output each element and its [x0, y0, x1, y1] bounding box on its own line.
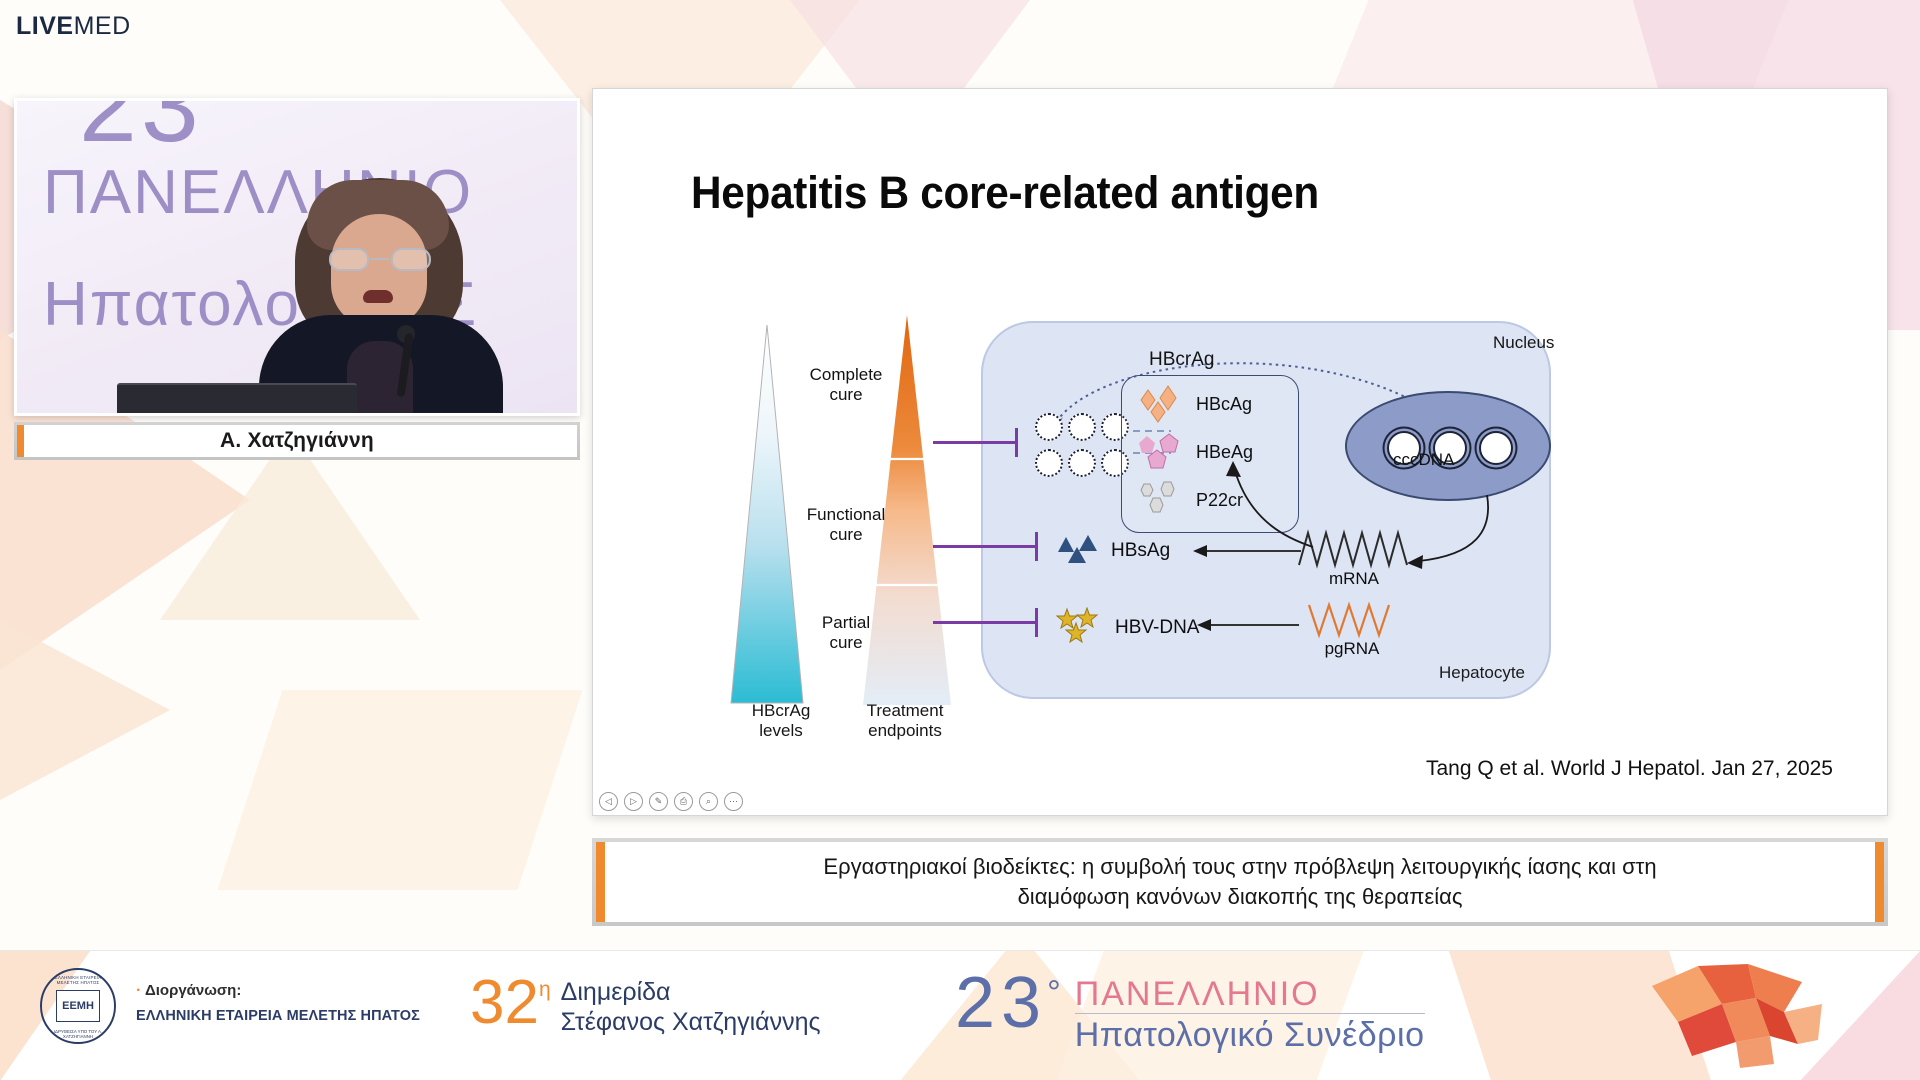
pyramid-caption-left: HBcrAglevels: [721, 701, 841, 741]
event-32-number: 32: [470, 974, 539, 1031]
event-23-line-2: Ηπατολογικό Συνέδριο: [1075, 1013, 1425, 1055]
speaker-panel: 23 ΠΑΝΕΛΛΗΝΙΟ Ηπατολογικό Σ Α.: [14, 98, 580, 460]
hbcag-glyphs: [1136, 384, 1188, 424]
logo-med-text: MED: [74, 12, 131, 40]
more-icon[interactable]: ⋯: [724, 792, 743, 811]
nucleus: [1345, 391, 1551, 501]
hbeag-glyphs: [1136, 432, 1188, 472]
pgrna-squiggle: [1305, 601, 1403, 641]
hbcrag-label: HBcrAg: [1149, 349, 1214, 371]
stage-label-functional: Functionalcure: [791, 505, 901, 546]
caption-line-1: Εργαστηριακοί βιοδείκτες: η συμβολή τους…: [823, 852, 1656, 882]
hbsag-glyphs: [1055, 531, 1103, 570]
nucleus-label: Nucleus: [1493, 333, 1554, 353]
speaker-mouth: [363, 290, 393, 303]
stage-label-partial: Partialcure: [791, 613, 901, 654]
event-32-suffix: η: [539, 978, 551, 1002]
speaker-video[interactable]: 23 ΠΑΝΕΛΛΗΝΙΟ Ηπατολογικό Σ: [14, 98, 580, 416]
slide-title: Hepatitis B core-related antigen: [691, 167, 1319, 219]
caption-accent-right: [1875, 842, 1884, 922]
marker-row-hbsag: HBsAg: [1055, 531, 1170, 570]
rewind-icon[interactable]: ◁: [599, 792, 618, 811]
footer-bar: ΕΛΛΗΝΙΚΗ ΕΤΑΙΡΕΙΑ ΜΕΛΕΤΗΣ ΗΠΑΤΟΣ ΕΕΜΗ ΙΔ…: [0, 950, 1920, 1080]
marker-name-hbsag: HBsAg: [1111, 540, 1170, 562]
caption-line-2: διαμόφωση κανόνων διακοπής της θεραπείας: [1018, 882, 1463, 912]
nameplate-accent-bar: [17, 425, 24, 457]
inhibitor-bar-complete: [933, 441, 1017, 444]
speaker-figure: [255, 178, 505, 413]
presentation-slide[interactable]: Hepatitis B core-related antigen: [592, 88, 1888, 816]
player-controls[interactable]: ◁ ▷ ✎ ⎙ ⌕ ⋯: [599, 792, 743, 811]
print-icon[interactable]: ⎙: [674, 792, 693, 811]
cccdna-to-mrna-arrow: [1383, 495, 1503, 587]
event-32-line-1: Διημερίδα: [561, 978, 821, 1008]
backdrop-number: 23: [79, 98, 203, 166]
speaker-nameplate: Α. Χατζηγιάννη: [14, 422, 580, 460]
marker-name-hbvdna: HBV-DNA: [1115, 617, 1199, 639]
event-23-degree: °: [1047, 974, 1061, 1013]
liver-graphic: [1652, 964, 1842, 1068]
pgrna-to-hbvdna-arrow: [1193, 609, 1305, 641]
organizer-name: ΕΛΛΗΝΙΚΗ ΕΤΑΙΡΕΙΑ ΜΕΛΕΤΗΣ ΗΠΑΤΟΣ: [136, 1008, 420, 1024]
protein-row-hbcag: HBcAg: [1136, 384, 1252, 424]
mrna-to-protein-arrow: [1193, 461, 1323, 553]
protein-name-hbeag: HBeAg: [1196, 442, 1253, 463]
hepatocyte-label: Hepatocyte: [1439, 663, 1525, 683]
p22cr-glyphs: [1136, 480, 1188, 520]
hbvdna-glyphs: [1055, 607, 1107, 648]
background-shape: [0, 620, 170, 800]
hbv-lifecycle-diagram: Completecure Functionalcure Partialcure …: [593, 265, 1888, 775]
inhibitor-bar-functional: [933, 545, 1037, 548]
pgrna-label: pgRNA: [1297, 639, 1407, 659]
event-32-block: 32 η Διημερίδα Στέφανος Χατζηγιάννης: [470, 974, 821, 1037]
logo-live-text: LIVE: [16, 12, 74, 40]
cccdna-label: cccDNA: [1393, 450, 1454, 470]
marker-row-hbvdna: HBV-DNA: [1055, 607, 1199, 648]
eemh-logo: ΕΛΛΗΝΙΚΗ ΕΤΑΙΡΕΙΑ ΜΕΛΕΤΗΣ ΗΠΑΤΟΣ ΕΕΜΗ ΙΔ…: [40, 968, 116, 1044]
organizer-block: · Διοργάνωση: ΕΛΛΗΝΙΚΗ ΕΤΑΙΡΕΙΑ ΜΕΛΕΤΗΣ …: [136, 982, 420, 1024]
caption-accent-left: [596, 842, 605, 922]
inhibitor-bar-partial: [933, 621, 1037, 624]
organizer-label: · Διοργάνωση:: [136, 982, 420, 1000]
event-32-line-2: Στέφανος Χατζηγιάννης: [561, 1008, 821, 1038]
app-root: LIVEMED 23 ΠΑΝΕΛΛΗΝΙΟ Ηπατολογικό Σ: [0, 0, 1920, 1080]
capsid-particles: [1035, 413, 1131, 481]
session-title-bar: Εργαστηριακοί βιοδείκτες: η συμβολή τους…: [592, 838, 1888, 926]
play-icon[interactable]: ▷: [624, 792, 643, 811]
zoom-icon[interactable]: ⌕: [699, 792, 718, 811]
podium: [117, 383, 357, 413]
stage-label-complete: Completecure: [791, 365, 901, 406]
event-23-number: 23: [955, 970, 1047, 1036]
glasses-icon: [327, 248, 433, 272]
eemh-logo-bottom-text: ΙΔΡΥΘΕΙΣΑ ΥΠΟ ΤΟΥ Α. ΧΑΤΖΗΓΙΑΝΝΗ: [48, 1029, 108, 1039]
slide-citation: Tang Q et al. World J Hepatol. Jan 27, 2…: [1426, 757, 1833, 781]
protein-name-hbcag: HBcAg: [1196, 394, 1252, 415]
event-23-block: 23 ° ΠΑΝΕΛΛΗΝΙΟ Ηπατολογικό Συνέδριο: [955, 970, 1425, 1055]
eemh-logo-top-text: ΕΛΛΗΝΙΚΗ ΕΤΑΙΡΕΙΑ ΜΕΛΕΤΗΣ ΗΠΑΤΟΣ: [48, 975, 108, 985]
speaker-name: Α. Χατζηγιάννη: [220, 429, 374, 453]
livemed-logo[interactable]: LIVEMED: [16, 14, 131, 39]
pyramid-caption-right: Treatmentendpoints: [845, 701, 965, 741]
event-23-line-1: ΠΑΝΕΛΛΗΝΙΟ: [1075, 976, 1425, 1013]
background-shape: [218, 690, 583, 890]
eemh-logo-core-text: ΕΕΜΗ: [56, 990, 100, 1022]
annotate-icon[interactable]: ✎: [649, 792, 668, 811]
slide-container: Hepatitis B core-related antigen: [592, 88, 1888, 818]
